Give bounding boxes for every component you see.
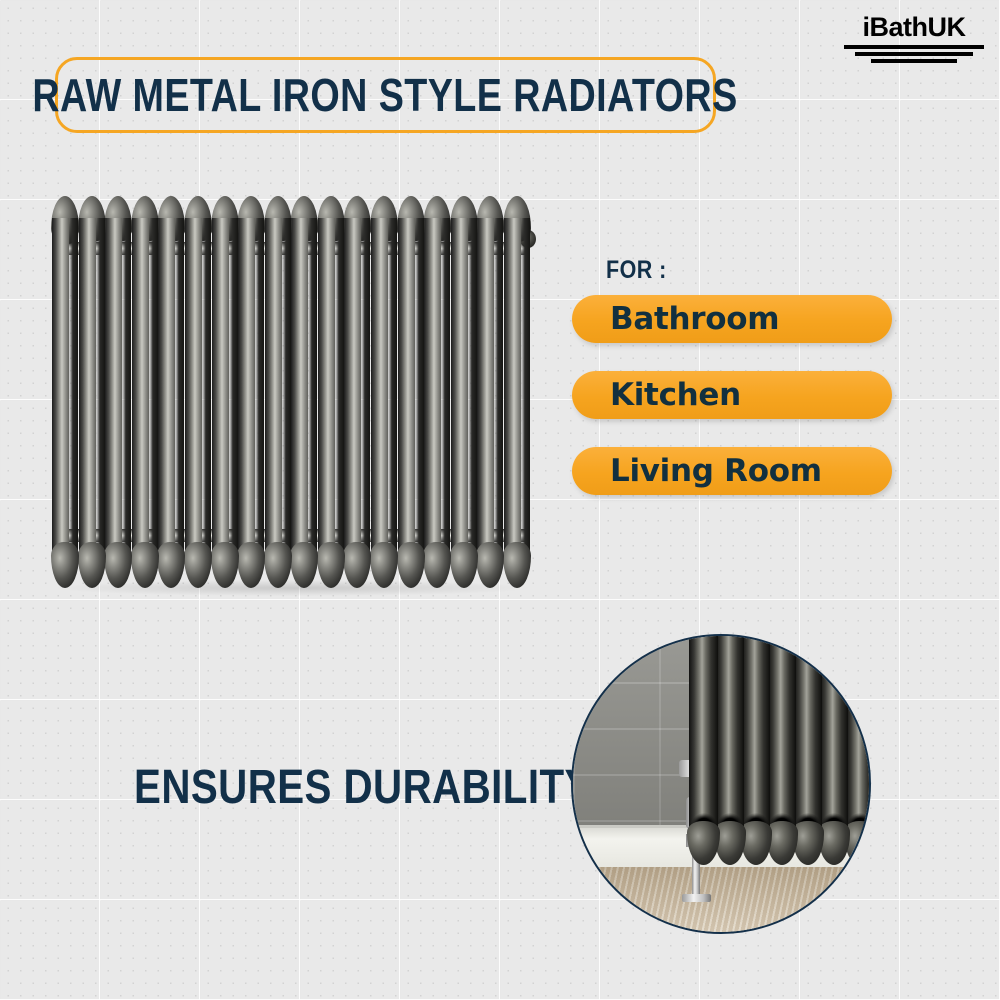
column-body xyxy=(238,218,264,566)
column-bottom-cap xyxy=(237,542,265,588)
lifestyle-radiator-column xyxy=(689,634,717,865)
radiator-column xyxy=(79,196,105,588)
poster-canvas: iBathUK RAW METAL IRON STYLE RADIATORS F… xyxy=(0,0,1000,1000)
radiator-column xyxy=(371,196,397,588)
lifestyle-photo-circle xyxy=(571,634,871,934)
column-bottom-cap xyxy=(131,542,159,588)
column-body xyxy=(424,218,450,566)
radiator-column xyxy=(132,196,158,588)
column-body xyxy=(105,218,131,566)
column-bottom-cap xyxy=(503,542,531,588)
valve-base xyxy=(682,894,711,903)
usage-pill-label: Bathroom xyxy=(610,304,779,335)
usage-list-label: FOR : xyxy=(606,256,667,285)
column-body xyxy=(212,218,238,566)
column-body xyxy=(185,218,211,566)
usage-pill-label: Kitchen xyxy=(610,380,741,411)
column-bottom-cap xyxy=(397,542,425,588)
usage-pill-living-room[interactable]: Living Room xyxy=(572,447,892,495)
column-body xyxy=(132,218,158,566)
column-bottom-cap xyxy=(476,542,504,588)
logo-bar-3 xyxy=(871,59,958,63)
wood-floor xyxy=(573,867,869,932)
radiator-column xyxy=(451,196,477,588)
column-body xyxy=(504,218,530,566)
radiator-column xyxy=(477,196,503,588)
lifestyle-column-body xyxy=(742,634,770,831)
usage-list: FOR : Bathroom Kitchen Living Room xyxy=(572,256,912,495)
radiator-column xyxy=(424,196,450,588)
column-bottom-cap xyxy=(78,542,106,588)
column-body xyxy=(52,218,78,566)
radiator-column xyxy=(105,196,131,588)
column-bottom-cap xyxy=(104,542,132,588)
radiator-column xyxy=(238,196,264,588)
logo-bar-1 xyxy=(844,45,984,49)
column-body xyxy=(344,218,370,566)
column-bottom-cap xyxy=(317,542,345,588)
usage-pill-bathroom[interactable]: Bathroom xyxy=(572,295,892,343)
column-bottom-cap xyxy=(211,542,239,588)
radiator-column xyxy=(265,196,291,588)
lifestyle-column-body xyxy=(768,634,796,831)
column-body xyxy=(265,218,291,566)
radiator-column xyxy=(318,196,344,588)
radiator-column xyxy=(398,196,424,588)
radiator-column xyxy=(212,196,238,588)
page-title: RAW METAL IRON STYLE RADIATORS xyxy=(33,72,738,118)
column-body xyxy=(291,218,317,566)
column-bottom-cap xyxy=(290,542,318,588)
lifestyle-column-body xyxy=(846,634,871,831)
radiator-column xyxy=(185,196,211,588)
column-bottom-cap xyxy=(264,542,292,588)
column-bottom-cap xyxy=(184,542,212,588)
column-bottom-cap xyxy=(450,542,478,588)
column-bottom-cap xyxy=(370,542,398,588)
lifestyle-column-body xyxy=(794,634,822,831)
title-banner: RAW METAL IRON STYLE RADIATORS xyxy=(55,57,716,133)
lifestyle-radiator-column xyxy=(794,634,822,865)
radiator-column xyxy=(504,196,530,588)
column-body xyxy=(79,218,105,566)
usage-pill-label: Living Room xyxy=(610,456,822,487)
column-body xyxy=(451,218,477,566)
column-bottom-cap xyxy=(343,542,371,588)
column-bottom-cap xyxy=(423,542,451,588)
column-body xyxy=(318,218,344,566)
column-body xyxy=(158,218,184,566)
usage-pill-kitchen[interactable]: Kitchen xyxy=(572,371,892,419)
brand-logo[interactable]: iBathUK xyxy=(844,14,984,63)
radiator-column xyxy=(344,196,370,588)
column-body xyxy=(477,218,503,566)
radiator-column xyxy=(158,196,184,588)
column-body xyxy=(371,218,397,566)
column-bottom-cap xyxy=(157,542,185,588)
lifestyle-column-foot xyxy=(687,821,719,865)
radiator-column xyxy=(52,196,78,588)
lifestyle-radiator-column xyxy=(820,634,848,865)
column-body xyxy=(398,218,424,566)
brand-logo-text: iBathUK xyxy=(844,14,984,41)
lifestyle-column-body xyxy=(689,634,717,831)
column-bottom-cap xyxy=(51,542,79,588)
radiator-column xyxy=(291,196,317,588)
tagline-text: ENSURES DURABILITY xyxy=(134,764,592,812)
lifestyle-column-body xyxy=(820,634,848,831)
logo-bar-2 xyxy=(855,52,973,56)
hero-product-image xyxy=(52,196,530,588)
lifestyle-radiator xyxy=(689,634,871,865)
lifestyle-column-body xyxy=(716,634,744,831)
